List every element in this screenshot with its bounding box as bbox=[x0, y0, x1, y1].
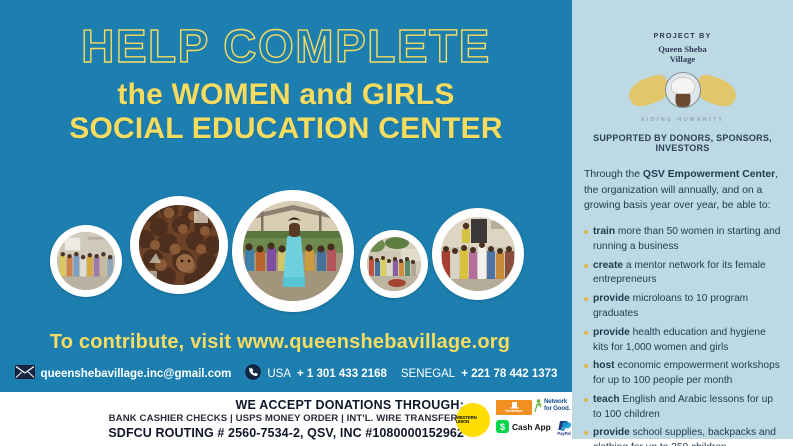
list-item: provide microloans to 10 program graduat… bbox=[584, 292, 781, 322]
bullet-verb: host bbox=[593, 360, 615, 371]
email-address[interactable]: queenshebavillage.inc@gmail.com bbox=[41, 368, 232, 380]
network-for-good-label-2: for Good. bbox=[544, 406, 570, 413]
crowd-of-children bbox=[139, 205, 219, 285]
intro-paragraph: Through the QSV Empowerment Center, the … bbox=[582, 167, 783, 214]
list-item: create a mentor network for its female e… bbox=[584, 259, 781, 289]
community-group-at-doorway bbox=[441, 217, 515, 291]
payment-logos: WESTERN UNION Sendwave bbox=[470, 394, 570, 444]
women-gathered-outside-building bbox=[57, 232, 115, 290]
contact-row: queenshebavillage.inc@gmail.com USA + 1 … bbox=[0, 364, 572, 383]
bullet-text: English and Arabic lessons for up to 100… bbox=[593, 394, 773, 420]
bullet-verb: provide bbox=[593, 427, 630, 438]
headline-line-3: SOCIAL EDUCATION CENTER bbox=[0, 112, 572, 146]
sendwave-glyph bbox=[510, 402, 519, 409]
benefits-list: train more than 50 women in starting and… bbox=[582, 225, 783, 446]
intro-bold: QSV Empowerment Center bbox=[643, 169, 775, 180]
bullet-text: more than 50 women in starting and runni… bbox=[593, 226, 780, 252]
photo-strip bbox=[40, 190, 560, 320]
photo-circle-2 bbox=[130, 196, 228, 294]
photo-circle-5 bbox=[432, 208, 524, 300]
sendwave-logo: Sendwave bbox=[496, 400, 532, 415]
donation-text-block: WE ACCEPT DONATIONS THROUGH: BANK CASHIE… bbox=[0, 398, 470, 440]
intro-pre: Through the bbox=[584, 169, 643, 180]
phone-usa-label: USA bbox=[267, 368, 291, 380]
bullet-verb: provide bbox=[593, 327, 630, 338]
headline-line-2: the WOMEN and GIRLS bbox=[0, 78, 572, 112]
list-item: provide school supplies, backpacks and c… bbox=[584, 426, 781, 446]
bullet-verb: teach bbox=[593, 394, 620, 405]
photo-circle-1 bbox=[50, 225, 122, 297]
org-name: Queen Sheba Village bbox=[582, 45, 783, 64]
phone-usa-number[interactable]: + 1 301 433 2168 bbox=[297, 368, 387, 380]
headline-block: HELP COMPLETE the WOMEN and GIRLS SOCIAL… bbox=[0, 22, 572, 145]
supported-by-line: SUPPORTED BY DONORS, SPONSORS, INVESTORS bbox=[582, 133, 783, 153]
bullet-text: economic empowerment workshops for up to… bbox=[593, 360, 780, 386]
donation-methods: BANK CASHIER CHECKS | USPS MONEY ORDER |… bbox=[0, 413, 464, 424]
paypal-glyph-icon bbox=[556, 420, 572, 431]
logo-headwrap bbox=[671, 77, 695, 94]
project-by-label: PROJECT BY bbox=[582, 0, 783, 40]
western-union-label: WESTERN UNION bbox=[456, 416, 490, 425]
contribute-line[interactable]: To contribute, visit www.queenshebavilla… bbox=[0, 331, 560, 354]
network-for-good-logo: Network for Good. bbox=[534, 399, 574, 415]
western-union-logo: WESTERN UNION bbox=[456, 403, 490, 437]
village-gathering-distant bbox=[367, 237, 421, 291]
paypal-logo: PayPal bbox=[554, 419, 574, 437]
org-name-line-2: Village bbox=[582, 55, 783, 65]
bullet-verb: provide bbox=[593, 293, 630, 304]
donation-footer: WE ACCEPT DONATIONS THROUGH: BANK CASHIE… bbox=[0, 392, 572, 446]
phone-senegal-number[interactable]: + 221 78 442 1373 bbox=[461, 368, 557, 380]
paypal-label: PayPal bbox=[557, 431, 570, 436]
photo-circle-3 bbox=[232, 190, 354, 312]
logo-medallion bbox=[665, 72, 701, 108]
routing-info: SDFCU ROUTING # 2560-7534-2, QSV, INC #1… bbox=[0, 426, 464, 440]
list-item: teach English and Arabic lessons for up … bbox=[584, 393, 781, 423]
sendwave-label: Sendwave bbox=[505, 409, 523, 413]
cash-app-label: Cash App bbox=[512, 422, 551, 432]
logo-tagline: AIDING HUMANITY bbox=[582, 117, 783, 123]
bullet-verb: train bbox=[593, 226, 615, 237]
photo-circle-4 bbox=[360, 230, 428, 298]
donation-heading: WE ACCEPT DONATIONS THROUGH: bbox=[0, 398, 464, 412]
headline-line-1: HELP COMPLETE bbox=[0, 22, 572, 70]
bullet-verb: create bbox=[593, 260, 623, 271]
sidebar: PROJECT BY Queen Sheba Village AIDING HU… bbox=[572, 0, 793, 439]
list-item: train more than 50 women in starting and… bbox=[584, 225, 781, 255]
donation-flyer: HELP COMPLETE the WOMEN and GIRLS SOCIAL… bbox=[0, 0, 793, 446]
woman-speaking-under-tent bbox=[243, 201, 343, 301]
list-item: provide health education and hygiene kit… bbox=[584, 326, 781, 356]
cash-app-logo: $ Cash App bbox=[496, 420, 551, 433]
queen-sheba-village-logo-icon bbox=[572, 66, 793, 116]
phone-icon bbox=[245, 364, 261, 383]
list-item: host economic empowerment workshops for … bbox=[584, 359, 781, 389]
email-icon bbox=[15, 365, 35, 382]
phone-senegal-label: SENEGAL bbox=[401, 368, 455, 380]
network-for-good-figure-icon bbox=[534, 399, 543, 412]
cash-app-glyph: $ bbox=[496, 420, 509, 433]
